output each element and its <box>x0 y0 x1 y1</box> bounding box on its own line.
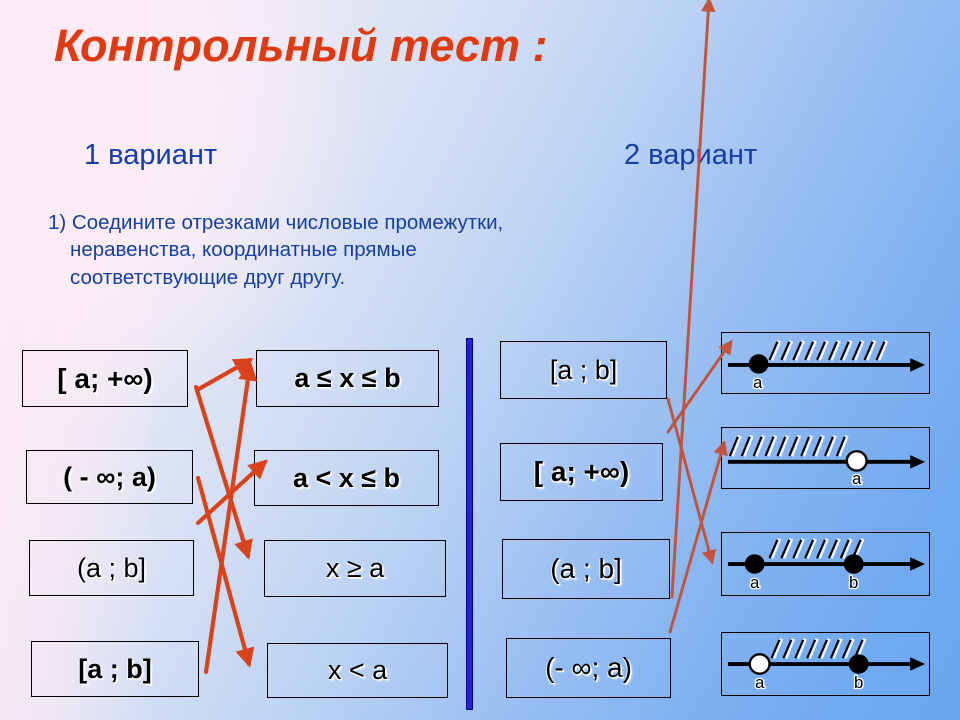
instruction-line-3: соответствующие друг другу. <box>48 264 648 291</box>
v2-numberline-box-2[interactable]: a <box>721 427 930 489</box>
numberline-ray-right-closed-icon: a <box>722 333 929 393</box>
v1-inequality-box-3[interactable]: x ≥ a <box>264 540 446 597</box>
v2-numberline-box-4[interactable]: a b <box>721 632 930 696</box>
column-divider <box>466 338 473 710</box>
v1-connector-5 <box>198 478 249 664</box>
v2-connector-4 <box>670 443 724 632</box>
v1-interval-box-4[interactable]: [a ; b] <box>31 641 199 697</box>
v2-interval-box-3[interactable]: (a ; b] <box>502 539 670 599</box>
v2-interval-box-1[interactable]: [a ; b] <box>500 341 667 399</box>
instruction-line-2: неравенства, координатные прямые <box>48 236 648 263</box>
numberline-4-point-b-label: b <box>854 673 863 692</box>
v2-numberline-box-3[interactable]: a b <box>721 532 930 596</box>
numberline-segment-open-closed-icon: a b <box>722 633 929 695</box>
v1-connector-4 <box>206 365 250 672</box>
v1-connector-1 <box>197 360 250 390</box>
v1-interval-box-1[interactable]: [ a; +∞) <box>22 350 188 407</box>
numberline-3-point-a-label: a <box>750 573 760 592</box>
variant-2-heading: 2 вариант <box>624 139 757 172</box>
instruction-text: 1) Соедините отрезками числовые промежут… <box>48 209 648 291</box>
v1-connector-2 <box>196 387 248 556</box>
numberline-2-point-a-label: a <box>852 469 862 488</box>
slide-canvas: Контрольный тест : 1 вариант 2 вариант 1… <box>0 0 960 720</box>
v1-inequality-box-2[interactable]: a < x ≤ b <box>254 450 439 506</box>
v2-connector-3 <box>672 0 709 597</box>
numberline-4-point-a-label: a <box>755 673 765 692</box>
v2-interval-box-2[interactable]: [ a; +∞) <box>500 443 663 501</box>
instruction-line-1: 1) Соедините отрезками числовые промежут… <box>48 211 503 234</box>
page-title: Контрольный тест : <box>54 20 547 72</box>
v1-inequality-box-1[interactable]: a ≤ x ≤ b <box>256 350 439 407</box>
numberline-segment-closed-closed-icon: a b <box>722 533 929 595</box>
v1-interval-box-3[interactable]: (a ; b] <box>29 540 194 596</box>
numberline-3-point-b-label: b <box>849 573 858 592</box>
v2-interval-box-4[interactable]: (- ∞; a) <box>506 638 671 698</box>
variant-1-heading: 1 вариант <box>84 139 217 172</box>
v1-interval-box-2[interactable]: ( - ∞; a) <box>26 450 193 504</box>
numberline-ray-left-open-icon: a <box>722 428 929 488</box>
v2-numberline-box-1[interactable]: a <box>721 332 930 394</box>
v2-connector-1 <box>668 399 712 562</box>
v1-inequality-box-4[interactable]: x < a <box>267 643 448 698</box>
numberline-1-point-a-label: a <box>753 373 763 392</box>
